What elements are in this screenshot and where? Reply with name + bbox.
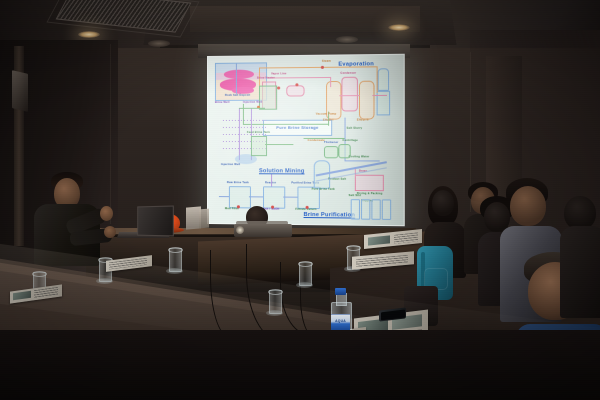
attendee-head bbox=[432, 190, 454, 216]
projector-lens-icon bbox=[236, 226, 244, 234]
drinking-glass bbox=[266, 290, 285, 320]
glass-base bbox=[96, 278, 113, 284]
phone-screen bbox=[381, 309, 405, 320]
laptop-screen bbox=[137, 206, 174, 237]
presenter-hand-left bbox=[104, 226, 116, 238]
glass-base bbox=[166, 268, 183, 274]
downlight-icon bbox=[78, 31, 100, 38]
glass-rim bbox=[168, 247, 183, 253]
attendee-6 bbox=[560, 196, 600, 316]
glass-rim bbox=[298, 261, 313, 267]
handout-image bbox=[368, 235, 390, 245]
handout-image bbox=[13, 291, 31, 301]
attendee-head bbox=[510, 186, 546, 226]
glass-base bbox=[296, 282, 313, 288]
downlight-icon bbox=[336, 36, 358, 43]
bottle-brand-text: AQUA bbox=[331, 319, 350, 323]
bottle-cap bbox=[335, 288, 346, 295]
bottle-label: AQUA bbox=[331, 314, 350, 331]
screen-frame bbox=[207, 54, 405, 227]
meeting-room-photo: Rock Salt Deposit Evaporation Solution M… bbox=[0, 0, 600, 400]
floor bbox=[0, 330, 600, 400]
handout-text bbox=[34, 287, 58, 298]
drinking-glass bbox=[166, 248, 183, 274]
attendee-torso bbox=[560, 226, 600, 318]
attendee-head bbox=[564, 196, 596, 230]
paper-sheet bbox=[199, 209, 209, 229]
downlight-icon bbox=[388, 24, 410, 31]
downlight-icon bbox=[148, 40, 170, 47]
glass-rim bbox=[32, 271, 47, 277]
glass-rim bbox=[268, 289, 283, 295]
glass-rim bbox=[346, 245, 361, 251]
handout-text bbox=[356, 255, 408, 268]
projection-screen: Rock Salt Deposit Evaporation Solution M… bbox=[207, 54, 405, 227]
presenter-hand-right bbox=[100, 206, 113, 221]
glass-base bbox=[266, 310, 283, 316]
handout-text bbox=[394, 232, 418, 244]
drinking-glass bbox=[296, 262, 313, 288]
speaker-icon bbox=[12, 70, 28, 112]
ceiling-soffit-inner bbox=[190, 6, 420, 32]
